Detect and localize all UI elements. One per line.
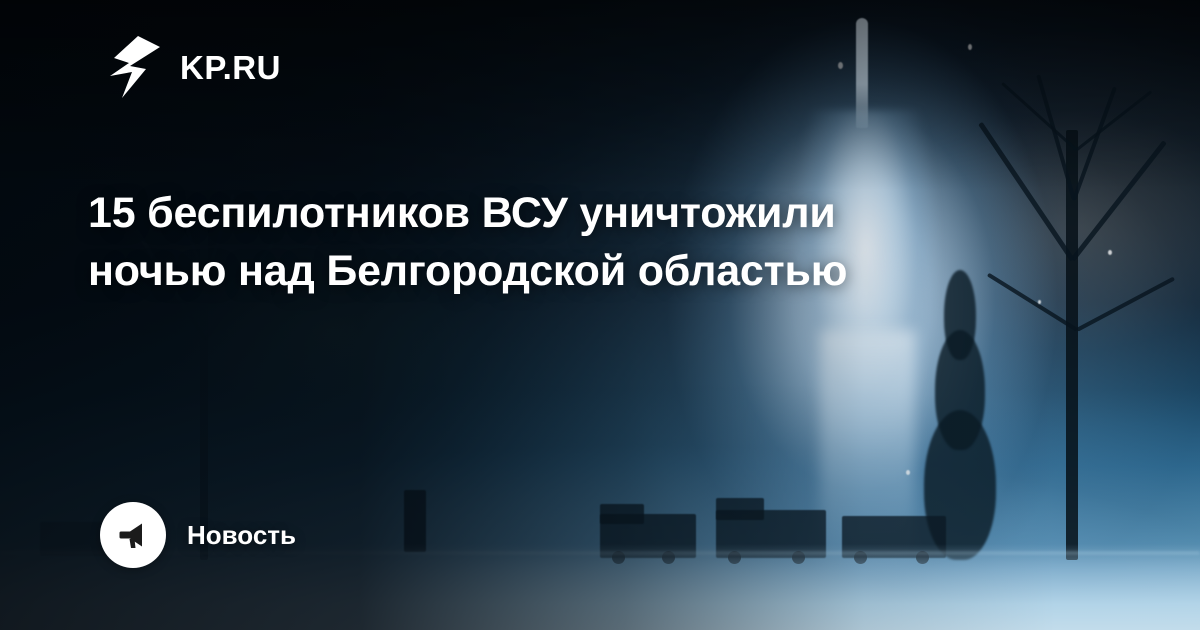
page-title: 15 беспилотников ВСУ уничтожили ночью на… xyxy=(88,185,948,300)
badge-circle xyxy=(100,502,166,568)
card-content: KP.RU 15 беспилотников ВСУ уничтожили но… xyxy=(0,0,1200,630)
brand-header[interactable]: KP.RU xyxy=(108,36,281,98)
content-type-badge[interactable]: Новость xyxy=(100,502,296,568)
news-share-card: KP.RU 15 беспилотников ВСУ уничтожили но… xyxy=(0,0,1200,630)
kp-bird-logo-icon xyxy=(108,36,164,98)
brand-name: KP.RU xyxy=(180,51,281,84)
megaphone-icon xyxy=(116,518,150,552)
badge-label: Новость xyxy=(187,520,296,551)
